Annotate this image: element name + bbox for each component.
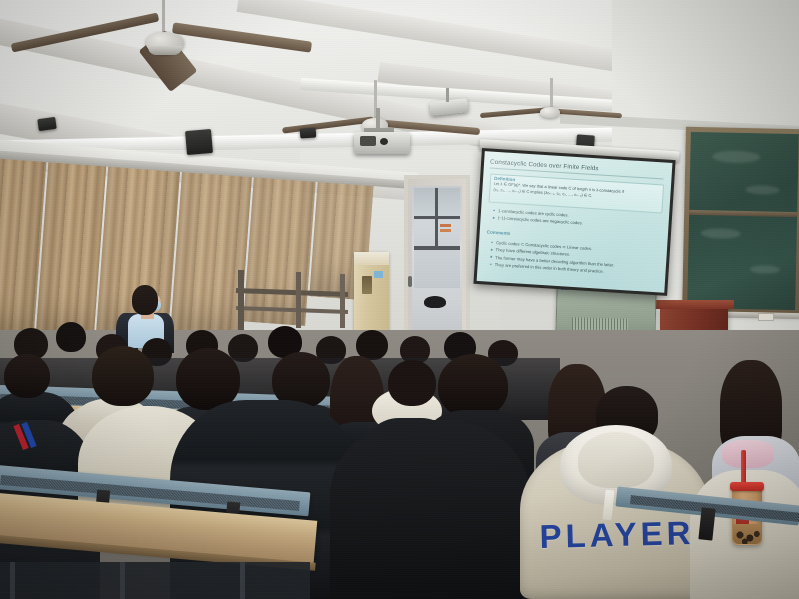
lecture-hall-photo: Constacyclic Codes over Finite Fields De… — [0, 0, 799, 599]
